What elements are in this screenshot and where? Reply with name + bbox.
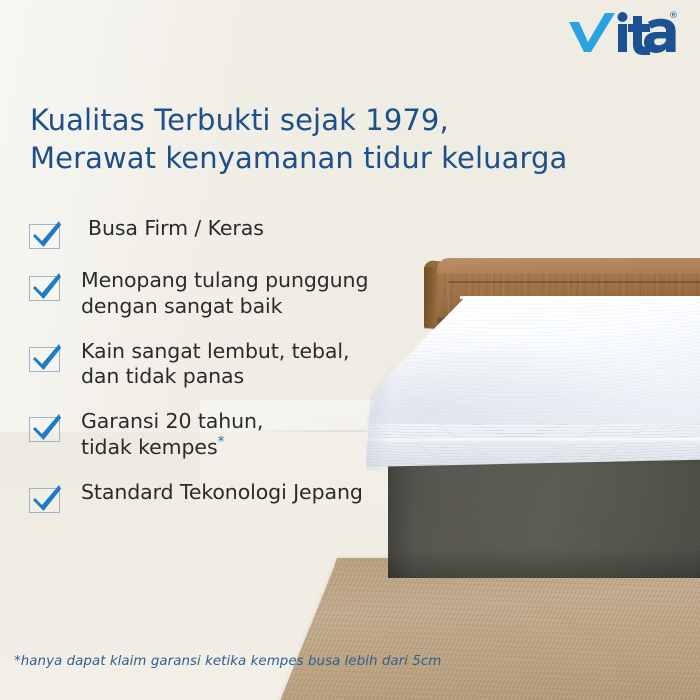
registered-trademark-symbol: ® — [669, 11, 678, 21]
woven-jute-rug — [276, 560, 700, 700]
list-item: Busa Firm / Keras — [29, 216, 429, 249]
checkbox-checked-icon — [29, 413, 63, 442]
feature-label: Standard Tekonologi Jepang — [63, 480, 363, 506]
vita-check-logo-icon — [565, 9, 677, 55]
list-item: Garansi 20 tahun, tidak kempes* — [29, 409, 429, 461]
list-item: Menopang tulang punggung dengan sangat b… — [29, 268, 429, 320]
headboard-bevel-groove — [448, 281, 700, 283]
list-item: Kain sangat lembut, tebal, dan tidak pan… — [29, 339, 429, 391]
page-title: Kualitas Terbukti sejak 1979, Merawat ke… — [30, 101, 567, 178]
feature-label: Kain sangat lembut, tebal, dan tidak pan… — [63, 339, 349, 391]
feature-label: Garansi 20 tahun, tidak kempes* — [63, 409, 263, 461]
feature-label: Busa Firm / Keras — [63, 216, 264, 242]
feature-list: Busa Firm / Keras Menopang tulang punggu… — [29, 216, 429, 513]
checkbox-checked-icon — [29, 484, 63, 513]
vita-logo[interactable]: ® — [565, 9, 678, 55]
checkbox-checked-icon — [29, 220, 63, 249]
mattress-top-edge-highlight — [460, 296, 700, 299]
warranty-footnote: *hanya dapat klaim garansi ketika kempes… — [14, 654, 441, 669]
asterisk-marker: * — [218, 434, 225, 450]
checkbox-checked-icon — [29, 272, 63, 301]
feature-label-text: Garansi 20 tahun, tidak kempes — [81, 409, 263, 459]
checkbox-checked-icon — [29, 343, 63, 372]
base-bottom-shading — [388, 548, 700, 578]
list-item: Standard Tekonologi Jepang — [29, 480, 429, 513]
feature-label: Menopang tulang punggung dengan sangat b… — [63, 268, 368, 320]
